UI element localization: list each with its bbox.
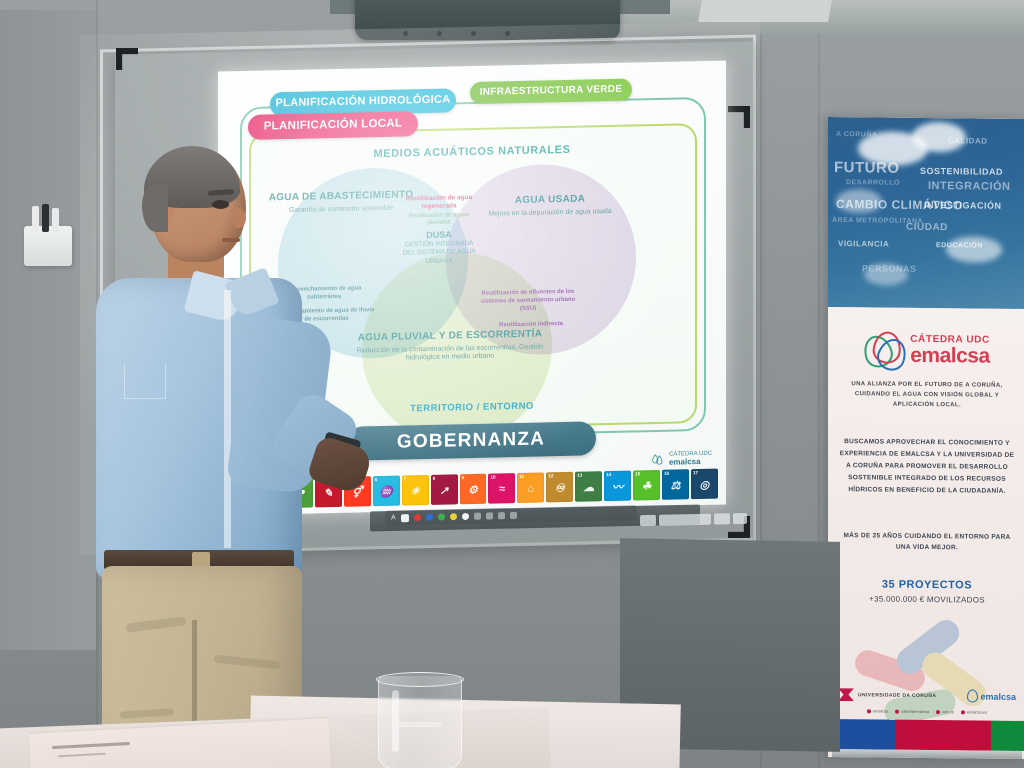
udc-logo: UNIVERSIDADE DA CORUÑA — [838, 688, 936, 702]
label-agua-pluvial: AGUA PLUVIAL Y DE ESCORRENTÍA Reducción … — [350, 328, 550, 364]
label-title: AGUA USADA — [480, 193, 620, 209]
sdg-goal-icon: ⚙ — [468, 483, 478, 496]
sdg-goal-number: 7 — [404, 476, 407, 481]
banner-sky-header: A CORUÑACALIDADFUTUROSOSTENIBILIDADDESAR… — [828, 117, 1024, 309]
conference-room-photo: PLANIFICACIÓN HIDROLÓGICA INFRAESTRUCTUR… — [0, 0, 1024, 768]
sdg-goal-10: 10≈ — [488, 473, 515, 504]
eraser-icon[interactable] — [474, 513, 481, 520]
udc-mark-icon — [838, 688, 854, 701]
banner-logo-emalcsa: emalcsa — [910, 344, 990, 366]
emalcsa-drops-icon — [864, 329, 904, 369]
sdg-goal-number: 10 — [490, 474, 495, 479]
banner-social-links: emalcsacatedraemalcsaudc.esemalcsa.es — [828, 708, 1024, 715]
wordcloud-word: FUTURO — [834, 159, 900, 177]
pen-color-swatch[interactable] — [414, 514, 421, 521]
display-icon[interactable] — [714, 513, 730, 524]
wordcloud-word: A CORUÑA — [836, 131, 877, 138]
sdg-goal-11: 11⌂ — [517, 472, 544, 503]
sdg-goal-number: 16 — [664, 471, 669, 476]
social-link: emalcsa.es — [961, 709, 987, 714]
banner-blurb: BUSCAMOS APROVECHAR EL CONOCIMIENTO Y EX… — [838, 436, 1016, 498]
sdg-goal-number: 13 — [577, 473, 582, 478]
marker-pen — [32, 206, 39, 232]
wordcloud-word: SOSTENIBILIDAD — [920, 166, 1003, 177]
ceiling-soffit-detail — [698, 0, 832, 22]
glass-rim — [376, 672, 464, 687]
wordcloud-word: INTEGRACIÓN — [928, 180, 1011, 193]
hair-side — [142, 184, 168, 232]
emalcsa-drops-icon — [650, 452, 666, 468]
sdg-goal-6: 6♒ — [373, 476, 400, 507]
sdg-goal-icon: ⚖ — [671, 479, 681, 492]
eye — [212, 200, 229, 209]
sdg-goal-number: 14 — [606, 472, 611, 477]
drop-icon — [967, 689, 978, 702]
settings-icon[interactable] — [733, 512, 747, 523]
sdg-goal-icon: ☀ — [410, 484, 420, 497]
social-link: emalcsa — [867, 708, 888, 713]
rollup-banner: A CORUÑACALIDADFUTUROSOSTENIBILIDADDESAR… — [828, 117, 1024, 759]
emalcsa-footer-text: emalcsa — [980, 691, 1016, 701]
banner-years-statement: MÁS DE 25 AÑOS CUIDANDO EL ENTORNO PARA … — [838, 530, 1016, 554]
pen-color-swatch[interactable] — [426, 514, 433, 521]
social-link: udc.es — [936, 709, 954, 714]
slide-logo-text: CÁTEDRA UDC emalcsa — [669, 451, 712, 467]
mouth — [222, 238, 240, 242]
sdg-goal-number: 9 — [462, 475, 465, 480]
sdg-goal-number: 15 — [635, 471, 640, 476]
select-tool-icon[interactable] — [401, 514, 409, 522]
pen-color-swatch[interactable] — [450, 513, 457, 520]
nose — [232, 208, 246, 228]
sdg-goal-number: 12 — [548, 473, 553, 478]
sdg-goal-icon: ☁ — [583, 480, 594, 493]
whiteboard-menu-bar[interactable] — [640, 511, 750, 527]
shirt-placket — [224, 290, 231, 548]
wordcloud-word: PERSONAS — [862, 263, 917, 274]
wordcloud-word: DESARROLLO — [846, 179, 900, 187]
banner-stats: 35 PROYECTOS +35.000.000 € MOVILIZADOS — [828, 578, 1024, 605]
banner-body: CÁTEDRA UDC emalcsa UNA ALIANZA POR EL F… — [828, 307, 1024, 759]
undo-icon[interactable] — [498, 512, 505, 519]
wordcloud-word: CALIDAD — [948, 136, 988, 145]
social-link: catedraemalcsa — [895, 709, 929, 714]
text-tool-icon[interactable]: A — [391, 514, 396, 521]
sdg-goal-17: 17◎ — [691, 469, 718, 500]
sdg-goal-icon: ☘ — [642, 479, 652, 492]
glass-etching — [398, 722, 442, 727]
slide-logo-emalcsa: emalcsa — [669, 457, 701, 467]
sdg-goal-icon: ⌂ — [528, 482, 535, 494]
colorbar-red — [895, 720, 991, 751]
wall-panel-left — [0, 10, 96, 650]
sdg-goal-15: 15☘ — [633, 470, 660, 501]
sdg-goal-14: 14〰 — [604, 471, 631, 502]
wordcloud-word: VIGILANCIA — [838, 239, 889, 249]
wordcloud-word: EDUCACIÓN — [936, 242, 983, 249]
stat-amount: +35.000.000 € MOVILIZADOS — [828, 594, 1024, 605]
note-reutilizacion-efluentes: Reutilización de efluentes de los sistem… — [476, 288, 580, 315]
sdg-goal-icon: 〰 — [612, 478, 623, 494]
colorbar-green — [991, 721, 1024, 751]
banner-wordcloud: A CORUÑACALIDADFUTUROSOSTENIBILIDADDESAR… — [828, 117, 1024, 309]
emalcsa-footer-logo: emalcsa — [967, 689, 1016, 703]
banner-footer-logos: UNIVERSIDADE DA CORUÑA emalcsa — [828, 688, 1024, 703]
sdg-goal-number: 17 — [693, 470, 698, 475]
marker-pen — [42, 204, 49, 232]
center-note-reutilizacion-pluviales: Reutilización de aguas pluviales — [400, 211, 478, 227]
presenter — [96, 150, 326, 768]
slide-emalcsa-logo: CÁTEDRA UDC emalcsa — [650, 451, 712, 468]
banner-colorbar — [828, 719, 1024, 751]
sdg-goal-16: 16⚖ — [662, 469, 689, 500]
sdg-goal-8: 8↗ — [431, 474, 458, 505]
venn-center-text: Reutilización de agua regenerada Reutili… — [400, 194, 478, 267]
ceiling-projector-unit — [355, 0, 620, 40]
pen-color-swatch[interactable] — [438, 513, 445, 520]
center-note-reutilizacion-regenerada: Reutilización de agua regenerada — [400, 194, 478, 211]
glass-highlight — [392, 690, 399, 752]
marker-tray — [24, 226, 72, 266]
marker-pen — [52, 208, 59, 232]
label-agua-usada: AGUA USADA Mejora en la depuración de ag… — [480, 193, 620, 219]
banner-logo: CÁTEDRA UDC emalcsa — [828, 329, 1024, 371]
pen-color-swatch[interactable] — [462, 513, 469, 520]
sdg-goal-9: 9⚙ — [460, 474, 487, 505]
wordcloud-word: CIUDAD — [906, 222, 948, 233]
pill-infraestructura-verde: INFRAESTRUCTURA VERDE — [470, 79, 632, 105]
menu-label[interactable] — [659, 513, 711, 525]
sdg-goal-number: 11 — [519, 474, 524, 479]
udc-logo-text: UNIVERSIDADE DA CORUÑA — [858, 692, 936, 699]
shirt-pocket — [124, 364, 166, 399]
center-acronym-expansion: GESTIÓN INTEGRADA DEL SISTEMA DE AGUA UR… — [400, 240, 478, 267]
sdg-goal-12: 12♾ — [546, 472, 573, 503]
sdg-goal-number: 6 — [375, 477, 378, 482]
sdg-goal-icon: ◎ — [700, 478, 710, 491]
sdg-goal-icon: ♒ — [379, 485, 393, 498]
gobernanza-banner: GOBERNANZA — [346, 421, 596, 460]
wordcloud-word: INVESTIGACIÓN — [924, 200, 1002, 211]
banner-tagline: UNA ALIANZA POR EL FUTURO DE A CORUÑA, C… — [842, 379, 1012, 411]
pill-planificacion-local: PLANIFICACIÓN LOCAL — [248, 111, 418, 140]
sdg-goal-number: 8 — [433, 476, 436, 481]
sdg-goal-icon: ♾ — [555, 481, 565, 494]
banner-logo-text: CÁTEDRA UDC emalcsa — [910, 334, 990, 366]
stat-projects: 35 PROYECTOS — [828, 578, 1024, 592]
shape-icon[interactable] — [486, 512, 493, 519]
sdg-goal-7: 7☀ — [402, 475, 429, 506]
sdg-goal-13: 13☁ — [575, 471, 602, 502]
sdg-goal-icon: ↗ — [439, 484, 448, 497]
more-icon[interactable] — [510, 512, 517, 519]
sdg-goal-icon: ≈ — [499, 483, 505, 495]
camera-icon[interactable] — [640, 514, 656, 525]
